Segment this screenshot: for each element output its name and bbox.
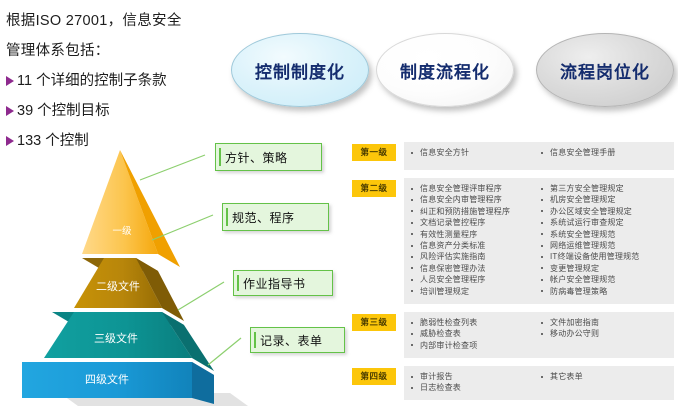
level-3-column-left: 脆弱性检查列表 威胁检查表 内部审计检查项 bbox=[410, 317, 540, 352]
level-panel-4: 审计报告 日志检查表 其它表单 bbox=[404, 366, 674, 400]
list-item: 人员安全管理程序 bbox=[410, 274, 536, 285]
list-item: 其它表单 bbox=[540, 371, 666, 382]
level-panel-2: 信息安全管理评审程序 信息安全内审管理程序 纠正和预防措施管理程序 文档记录管控… bbox=[404, 178, 674, 304]
list-item: IT终端设备使用管理规范 bbox=[540, 251, 666, 262]
list-item: 信息资产分类标准 bbox=[410, 240, 536, 251]
level-2-column-left: 信息安全管理评审程序 信息安全内审管理程序 纠正和预防措施管理程序 文档记录管控… bbox=[410, 183, 540, 298]
list-item: 机房安全管理规定 bbox=[540, 194, 666, 205]
list-item: 有效性测量程序 bbox=[410, 229, 536, 240]
list-item: 脆弱性检查列表 bbox=[410, 317, 536, 328]
pyramid-tier-3-label: 三级文件 bbox=[94, 331, 138, 345]
leader-line-3 bbox=[178, 282, 224, 310]
ellipse-control-institutionalization[interactable]: 控制制度化 bbox=[231, 33, 369, 107]
list-item: 信息安全管理手册 bbox=[540, 147, 666, 158]
level-panel-1: 信息安全方针 信息安全管理手册 bbox=[404, 142, 674, 170]
list-item: 内部审计检查项 bbox=[410, 340, 536, 351]
callout-work-instruction[interactable]: 作业指导书 bbox=[233, 270, 333, 296]
triangle-right-icon bbox=[6, 76, 14, 86]
list-item: 第三方安全管理规定 bbox=[540, 183, 666, 194]
list-item: 防病毒管理策略 bbox=[540, 286, 666, 297]
pyramid-tier-1-label: 一级 bbox=[112, 225, 132, 237]
level-3-column-right: 文件加密指南 移动办公守则 bbox=[540, 317, 670, 352]
callout-record-form[interactable]: 记录、表单 bbox=[250, 327, 345, 353]
ellipse-process-position[interactable]: 流程岗位化 bbox=[536, 33, 674, 107]
level-badge-2[interactable]: 第二级 bbox=[352, 180, 396, 197]
leader-line-2 bbox=[152, 215, 213, 240]
intro-line-2: 管理体系包括： bbox=[6, 36, 221, 66]
callout-policy-strategy[interactable]: 方针、策略 bbox=[215, 143, 322, 171]
intro-bullet-2-label: 39 个控制目标 bbox=[17, 96, 110, 126]
level-4-column-right: 其它表单 bbox=[540, 371, 670, 394]
level-4-column-left: 审计报告 日志检查表 bbox=[410, 371, 540, 394]
leader-line-1 bbox=[140, 155, 205, 180]
callout-standard-procedure[interactable]: 规范、程序 bbox=[222, 203, 329, 231]
list-item: 文件加密指南 bbox=[540, 317, 666, 328]
list-item: 文档记录管控程序 bbox=[410, 217, 536, 228]
intro-bullet-1-label: 11 个详细的控制子条款 bbox=[17, 66, 167, 96]
list-item: 威胁检查表 bbox=[410, 328, 536, 339]
level-panel-3: 脆弱性检查列表 威胁检查表 内部审计检查项 文件加密指南 移动办公守则 bbox=[404, 312, 674, 358]
list-item: 纠正和预防措施管理程序 bbox=[410, 206, 536, 217]
level-badge-3[interactable]: 第三级 bbox=[352, 314, 396, 331]
list-item: 系统试运行审查规定 bbox=[540, 217, 666, 228]
list-item: 审计报告 bbox=[410, 371, 536, 382]
level-badge-4[interactable]: 第四级 bbox=[352, 368, 396, 385]
list-item: 风险评估实施指南 bbox=[410, 251, 536, 262]
list-item: 日志检查表 bbox=[410, 382, 536, 393]
list-item: 变更管理规定 bbox=[540, 263, 666, 274]
triangle-right-icon bbox=[6, 106, 14, 116]
level-1-column-right: 信息安全管理手册 bbox=[540, 147, 670, 158]
document-levels-panel: 第一级 信息安全方针 信息安全管理手册 第二级 信息安全管理评审程序 信息安全内… bbox=[352, 142, 674, 408]
intro-bullet-2: 39 个控制目标 bbox=[6, 96, 221, 126]
list-item: 系统安全管理规范 bbox=[540, 229, 666, 240]
level-badge-1[interactable]: 第一级 bbox=[352, 144, 396, 161]
list-item: 信息保密管理办法 bbox=[410, 263, 536, 274]
pyramid-tier-4-label: 四级文件 bbox=[85, 372, 129, 386]
intro-bullet-1: 11 个详细的控制子条款 bbox=[6, 66, 221, 96]
leader-line-4 bbox=[208, 338, 241, 365]
level-row-2: 第二级 信息安全管理评审程序 信息安全内审管理程序 纠正和预防措施管理程序 文档… bbox=[352, 178, 674, 304]
ellipse-institution-process[interactable]: 制度流程化 bbox=[376, 33, 514, 107]
level-row-3: 第三级 脆弱性检查列表 威胁检查表 内部审计检查项 文件加密指南 移动办公守则 bbox=[352, 312, 674, 358]
list-item: 办公区域安全管理规定 bbox=[540, 206, 666, 217]
list-item: 信息安全管理评审程序 bbox=[410, 183, 536, 194]
list-item: 信息安全内审管理程序 bbox=[410, 194, 536, 205]
level-row-1: 第一级 信息安全方针 信息安全管理手册 bbox=[352, 142, 674, 170]
list-item: 移动办公守则 bbox=[540, 328, 666, 339]
list-item: 培训管理规定 bbox=[410, 286, 536, 297]
intro-line-1: 根据ISO 27001，信息安全 bbox=[6, 6, 221, 36]
list-item: 网络运维管理规范 bbox=[540, 240, 666, 251]
pyramid-tier-2-label: 二级文件 bbox=[96, 279, 140, 293]
level-1-column-left: 信息安全方针 bbox=[410, 147, 540, 158]
level-2-column-right: 第三方安全管理规定 机房安全管理规定 办公区域安全管理规定 系统试运行审查规定 … bbox=[540, 183, 670, 298]
level-row-4: 第四级 审计报告 日志检查表 其它表单 bbox=[352, 366, 674, 400]
list-item: 信息安全方针 bbox=[410, 147, 536, 158]
list-item: 帐户安全管理规范 bbox=[540, 274, 666, 285]
